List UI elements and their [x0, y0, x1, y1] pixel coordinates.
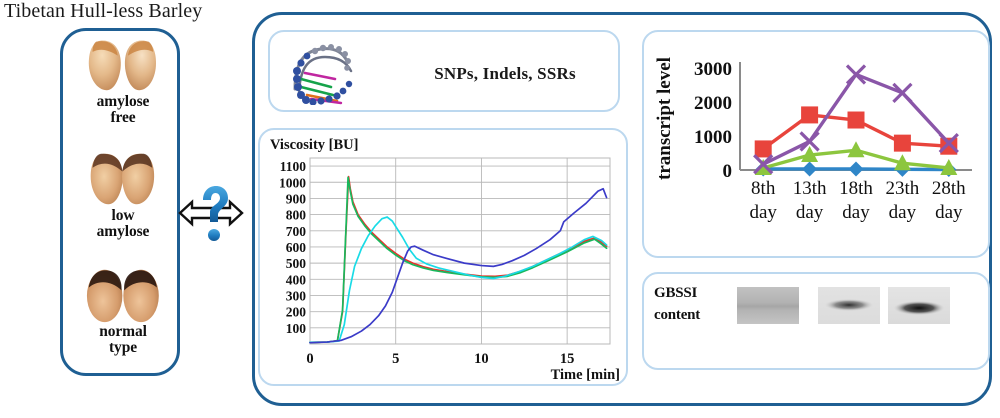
- viscosity-y-tick: 900: [286, 191, 307, 206]
- viscosity-x-tick: 15: [560, 351, 575, 367]
- seed-label-line2: type: [109, 339, 137, 356]
- viscosity-y-tick: 500: [286, 256, 307, 271]
- transcript-x-tick: day: [749, 202, 777, 223]
- transcript-x-tick: 18th: [839, 178, 873, 199]
- transcript-marker: [940, 138, 957, 155]
- transcript-y-tick: 2000: [694, 93, 732, 114]
- transcript-series: [754, 65, 958, 177]
- transcript-x-tick: 28th: [932, 178, 966, 199]
- blot-lane-2: [818, 287, 880, 324]
- seed-label-line2: amylose: [97, 223, 150, 240]
- transcript-marker: [801, 106, 818, 123]
- transcript-marker: [894, 135, 911, 152]
- viscosity-y-tick: 1100: [280, 159, 307, 174]
- seed-label: normal type: [63, 324, 183, 356]
- transcript-x-tick: 13th: [793, 178, 827, 199]
- viscosity-y-tick: 200: [286, 305, 307, 320]
- viscosity-chart: 10020030040050060070080090010001100 0510…: [258, 128, 628, 386]
- graphical-abstract: Tibetan Hull-less Barley amylose: [0, 0, 1000, 418]
- transcript-level-chart: 0100020003000 8thday13thday18thday23thda…: [642, 30, 990, 258]
- viscosity-y-tick-labels: 10020030040050060070080090010001100: [279, 159, 306, 336]
- viscosity-x-tick-labels: 051015: [306, 351, 574, 367]
- seed-types-panel: amylose free low amylose: [60, 28, 180, 376]
- barley-seed-pair-low-amylose-icon: [72, 151, 175, 207]
- blot-lane-3: [888, 287, 950, 324]
- seed-label-line2: free: [110, 109, 135, 126]
- seed-label: amylose free: [63, 94, 183, 126]
- transcript-x-tick: day: [796, 202, 824, 223]
- transcript-y-tick: 3000: [694, 59, 732, 80]
- transcript-x-tick: day: [889, 202, 917, 223]
- page-title: Tibetan Hull-less Barley: [4, 0, 202, 23]
- transcript-marker: [849, 161, 864, 176]
- seed-label-line1: normal: [99, 323, 147, 340]
- seed-group-amylose-free: amylose free: [63, 37, 183, 126]
- gbssi-label-line2: content: [654, 305, 734, 327]
- viscosity-y-tick: 300: [286, 288, 307, 303]
- seed-label-line1: low: [112, 207, 135, 224]
- viscosity-x-tick: 5: [392, 351, 399, 367]
- viscosity-y-tick: 700: [286, 224, 307, 239]
- viscosity-y-tick: 400: [286, 272, 307, 287]
- viscosity-x-axis-label: Time [min]: [551, 367, 620, 383]
- blot-lane-1: [737, 287, 799, 324]
- dna-double-helix-icon: [287, 37, 363, 105]
- viscosity-x-tick: 0: [306, 351, 313, 367]
- transcript-x-tick-labels: 8thday13thday18thday23thday28thday: [749, 178, 966, 223]
- transcript-y-axis-label: transcript level: [654, 57, 675, 180]
- viscosity-x-tick: 10: [474, 351, 489, 367]
- gbssi-label: GBSSI content: [654, 283, 734, 327]
- seed-group-normal-type: normal type: [63, 267, 183, 356]
- viscosity-y-tick: 600: [286, 240, 307, 255]
- seed-label: low amylose: [63, 208, 183, 240]
- transcript-x-tick: 8th: [751, 178, 776, 199]
- viscosity-y-axis-label: Viscosity [BU]: [270, 137, 358, 153]
- question-mark-double-arrow-icon: [176, 178, 246, 248]
- barley-seed-pair-amylose-free-icon: [72, 37, 175, 93]
- transcript-x-tick: day: [842, 202, 870, 223]
- transcript-y-tick-labels: 0100020003000: [694, 59, 732, 182]
- gbssi-label-line1: GBSSI: [654, 283, 734, 305]
- transcript-marker: [755, 140, 772, 157]
- barley-seed-pair-normal-type-icon: [72, 267, 175, 323]
- seed-label-line1: amylose: [97, 93, 150, 110]
- viscosity-y-tick: 100: [286, 321, 307, 336]
- transcript-y-tick: 0: [723, 161, 733, 182]
- transcript-marker: [848, 112, 865, 129]
- transcript-x-tick: 23th: [886, 178, 920, 199]
- viscosity-y-tick: 800: [286, 208, 307, 223]
- transcript-x-tick: day: [935, 202, 963, 223]
- seed-group-low-amylose: low amylose: [63, 151, 183, 240]
- variants-label: SNPs, Indels, SSRs: [395, 64, 615, 84]
- transcript-marker: [802, 161, 817, 176]
- viscosity-y-tick: 1000: [279, 175, 306, 190]
- transcript-y-tick: 1000: [694, 127, 732, 148]
